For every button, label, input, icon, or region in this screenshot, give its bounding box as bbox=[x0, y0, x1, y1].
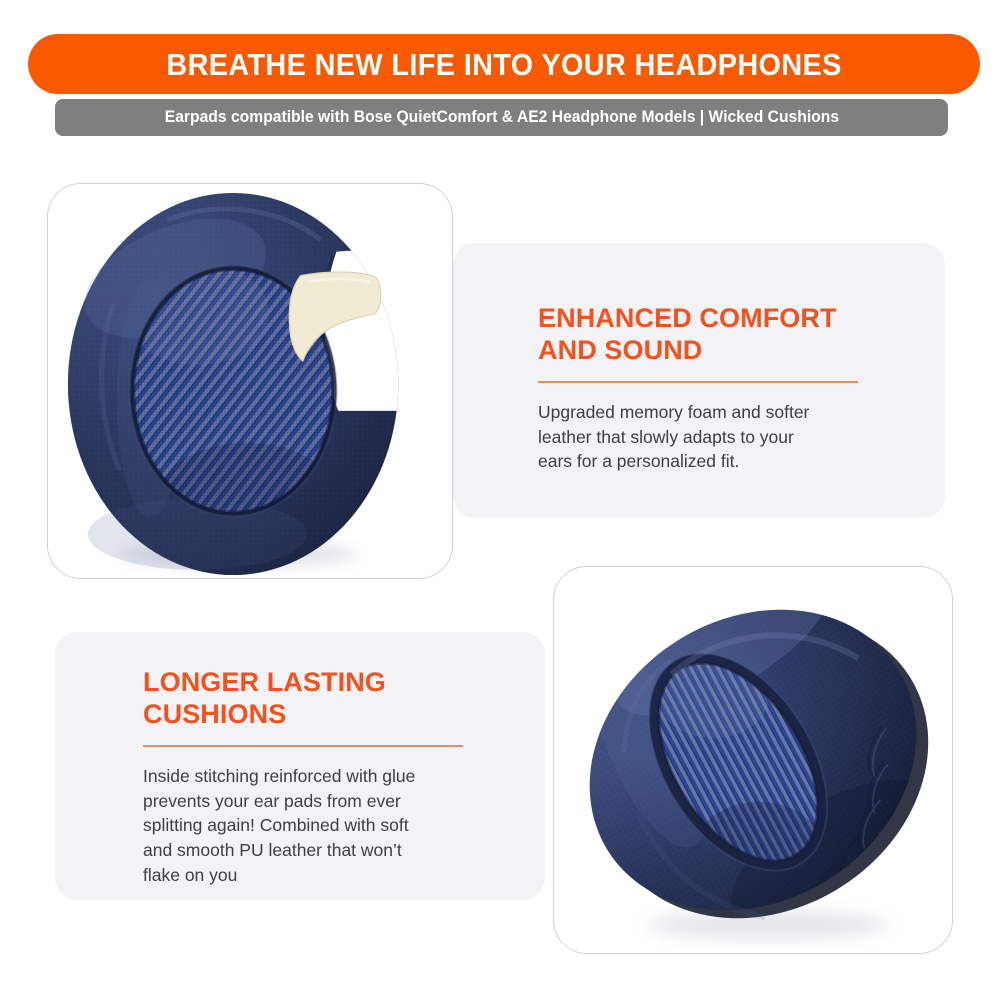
feature-body-enhanced-comfort: Upgraded memory foam and softer leather … bbox=[538, 400, 868, 475]
product-image-card-earpad-angle bbox=[553, 566, 953, 954]
feature-body-longer-lasting-cushions: Inside stitching reinforced with glue pr… bbox=[143, 764, 468, 888]
feature-panel-enhanced-comfort: ENHANCED COMFORT AND SOUND Upgraded memo… bbox=[453, 243, 945, 518]
infographic-page: BREATHE NEW LIFE INTO YOUR HEADPHONES Ea… bbox=[0, 0, 1000, 1000]
subheader-banner: Earpads compatible with Bose QuietComfor… bbox=[55, 99, 948, 136]
feature-divider bbox=[143, 745, 463, 747]
feature-divider bbox=[538, 381, 858, 383]
subheader-banner-text: Earpads compatible with Bose QuietComfor… bbox=[164, 109, 838, 126]
feature-panel-longer-lasting-cushions: LONGER LASTING CUSHIONS Inside stitching… bbox=[55, 632, 545, 900]
header-banner-title: BREATHE NEW LIFE INTO YOUR HEADPHONES bbox=[166, 49, 841, 80]
product-image-card-earpad-front bbox=[47, 183, 453, 579]
feature-title-longer-lasting-cushions: LONGER LASTING CUSHIONS bbox=[143, 667, 468, 731]
header-banner: BREATHE NEW LIFE INTO YOUR HEADPHONES bbox=[28, 34, 980, 94]
earpad-front-illustration bbox=[48, 184, 452, 578]
feature-title-enhanced-comfort: ENHANCED COMFORT AND SOUND bbox=[538, 303, 868, 367]
earpad-angle-illustration bbox=[554, 567, 952, 953]
